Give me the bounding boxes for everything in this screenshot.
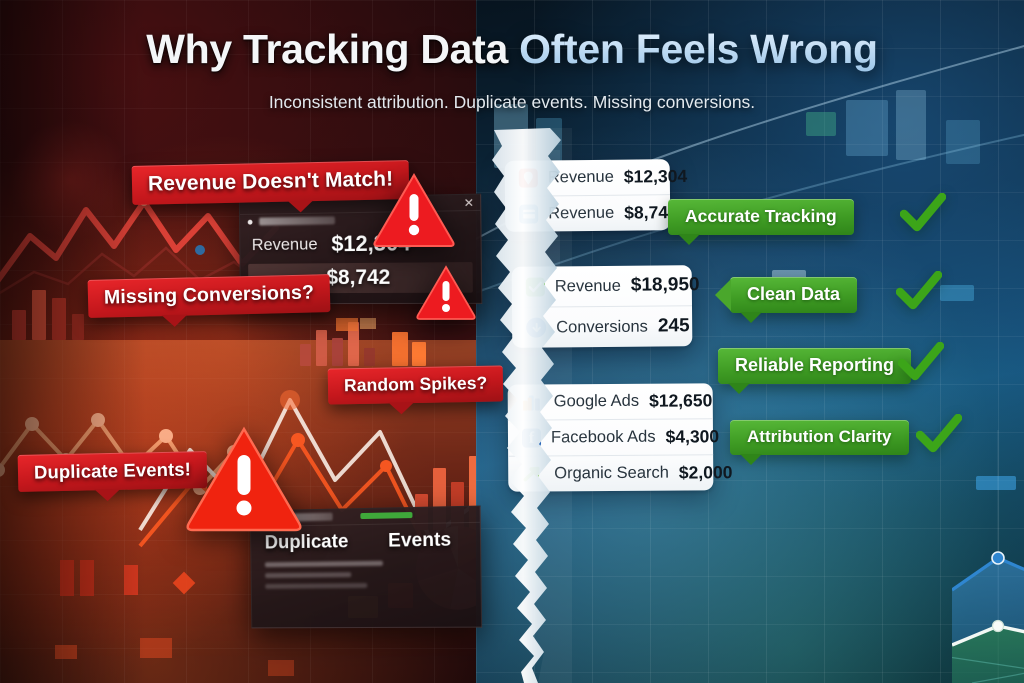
badge-reliable-reporting[interactable]: Reliable Reporting	[718, 348, 911, 384]
legend-dot-icon	[248, 220, 253, 225]
warning-triangle-icon[interactable]	[415, 264, 477, 321]
arrow-down-circle-icon	[526, 317, 546, 337]
google-ads-icon	[522, 392, 544, 411]
metric-label: Revenue	[548, 168, 614, 188]
progress-bar	[360, 512, 412, 519]
metric-label: Organic Search	[554, 464, 669, 484]
check-icon	[898, 342, 944, 382]
page-title-right: Often Feels Wrong	[519, 26, 878, 72]
metric-value: $8,742	[326, 266, 390, 290]
check-icon	[900, 193, 946, 233]
facebook-icon: f	[522, 428, 541, 447]
close-icon[interactable]: ✕	[464, 196, 475, 210]
callout-random-spikes[interactable]: Random Spikes?	[328, 365, 504, 404]
clean-trend-chart	[952, 430, 1024, 683]
metric-value: $4,300	[666, 426, 720, 447]
badge-clean-data[interactable]: Clean Data	[730, 277, 857, 313]
table-row[interactable]: f Facebook Ads $4,300	[508, 419, 713, 456]
bar-group-mid	[300, 320, 430, 366]
metric-label: Revenue	[548, 204, 614, 224]
table-row[interactable]: Revenue $8,742	[505, 195, 670, 232]
table-row[interactable]: Conversions 245	[512, 306, 692, 348]
warning-triangle-icon[interactable]	[372, 172, 456, 248]
callout-missing-conversions[interactable]: Missing Conversions?	[88, 274, 331, 318]
header: Why Tracking Data Often Feels Wrong Inco…	[0, 0, 1024, 113]
page-title: Why Tracking Data Often Feels Wrong	[0, 26, 1024, 73]
card-icon	[519, 205, 538, 224]
metric-value: $2,000	[679, 462, 733, 483]
metric-value: $12,304	[624, 166, 687, 188]
table-row[interactable]: Google Ads $12,650	[508, 383, 713, 420]
metric-label: Conversions	[556, 317, 648, 337]
metric-label: Facebook Ads	[551, 428, 656, 448]
metric-value: 245	[658, 315, 690, 337]
metric-label: Google Ads	[554, 392, 639, 412]
checkbox-icon[interactable]	[526, 277, 545, 296]
revenue-mismatch-card[interactable]: Revenue $12,304 Revenue $8,742	[505, 159, 671, 232]
table-row[interactable]: Revenue $18,950	[512, 265, 692, 308]
badge-attribution-clarity[interactable]: Attribution Clarity	[730, 420, 909, 455]
blurred-metric-label	[259, 216, 335, 225]
callout-revenue-mismatch[interactable]: Revenue Doesn't Match!	[132, 160, 410, 205]
metric-label: Revenue	[252, 235, 318, 256]
clean-metrics-card[interactable]: Revenue $18,950 Conversions 245	[512, 265, 693, 348]
bar-group-left	[12, 280, 92, 340]
pin-icon	[519, 169, 538, 188]
channel-attribution-card[interactable]: Google Ads $12,650 f Facebook Ads $4,300…	[508, 383, 714, 491]
badge-accurate-tracking[interactable]: Accurate Tracking	[668, 199, 854, 235]
warning-triangle-icon[interactable]	[185, 425, 303, 533]
infographic-canvas: ✕ Revenue $12,304 $8,742 Duplicate	[0, 0, 1024, 683]
table-row[interactable]: Organic Search $2,000	[508, 455, 713, 491]
duplicate-label-2: Events	[388, 529, 451, 552]
check-icon	[896, 271, 942, 311]
page-title-left: Why Tracking Data	[146, 26, 519, 72]
check-icon	[916, 414, 962, 454]
duplicate-label-1: Duplicate	[265, 531, 349, 554]
table-row[interactable]: Revenue $12,304	[505, 159, 670, 197]
metric-label: Revenue	[555, 276, 621, 296]
page-subtitle: Inconsistent attribution. Duplicate even…	[0, 92, 1024, 113]
callout-duplicate-events[interactable]: Duplicate Events!	[18, 451, 208, 492]
metric-value: $12,650	[649, 390, 712, 411]
metric-value: $18,950	[631, 274, 700, 297]
organic-search-arrow-icon	[522, 464, 544, 483]
